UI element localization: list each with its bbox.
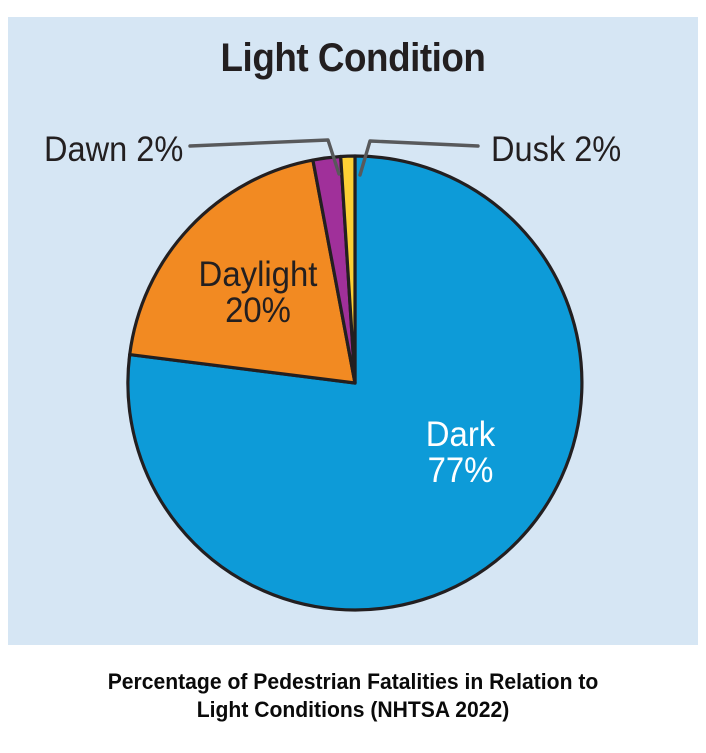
pie-label-dawn: Dawn 2% [44, 130, 183, 170]
pie-label-dusk: Dusk 2% [491, 130, 621, 170]
caption-line-2: Light Conditions (NHTSA 2022) [197, 697, 509, 722]
pie-label-dark-percent: 77% [402, 453, 520, 489]
caption-line-1: Percentage of Pedestrian Fatalities in R… [108, 669, 599, 694]
figure-caption: Percentage of Pedestrian Fatalities in R… [26, 668, 681, 724]
pie-label-dark: Dark 77% [402, 417, 520, 489]
chart-panel: Light Condition Dawn 2% Dusk 2% Daylight… [8, 17, 698, 645]
pie-label-daylight: Daylight 20% [183, 257, 333, 329]
figure-container: Light Condition Dawn 2% Dusk 2% Daylight… [0, 0, 706, 753]
pie-label-daylight-percent: 20% [183, 293, 333, 329]
pie-label-daylight-name: Daylight [199, 255, 318, 294]
pie-chart-svg [8, 17, 698, 645]
pie-label-dark-name: Dark [426, 415, 495, 454]
